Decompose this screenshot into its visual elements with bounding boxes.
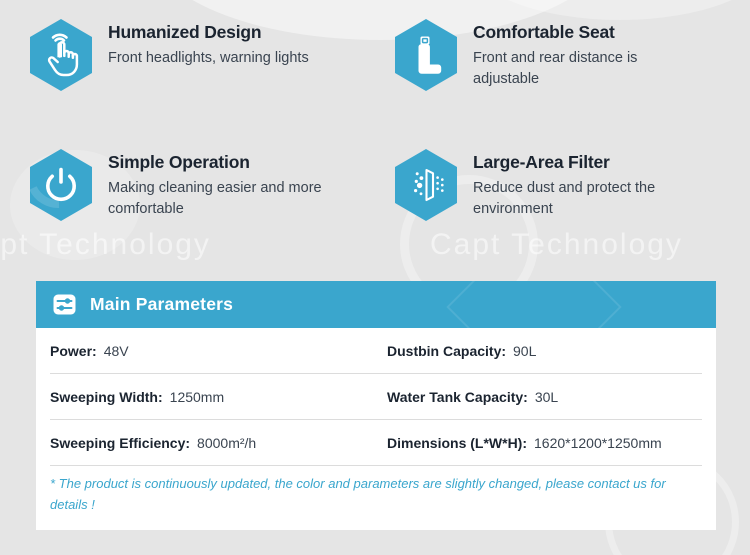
param-value: 1620*1200*1250mm (534, 435, 662, 451)
param-label: Dustbin Capacity: (387, 343, 506, 359)
feature-card-humanized-design: Humanized Design Front headlights, warni… (0, 0, 375, 130)
param-cell-sweeping-efficiency: Sweeping Efficiency: 8000m²/h (50, 435, 387, 451)
main-parameters-panel: Main Parameters Power: 48V Dustbin Capac… (36, 281, 716, 530)
param-value: 1250mm (170, 389, 224, 405)
feature-title: Simple Operation (108, 152, 333, 173)
param-cell-sweeping-width: Sweeping Width: 1250mm (50, 389, 387, 405)
feature-title: Comfortable Seat (473, 22, 698, 43)
param-cell-dustbin-capacity: Dustbin Capacity: 90L (387, 343, 702, 359)
feature-text-block: Humanized Design Front headlights, warni… (108, 18, 309, 69)
param-value: 90L (513, 343, 536, 359)
hand-tap-icon (28, 18, 94, 92)
param-label: Sweeping Width: (50, 389, 163, 405)
param-value: 48V (104, 343, 129, 359)
param-value: 30L (535, 389, 558, 405)
car-seat-icon (393, 18, 459, 92)
feature-card-simple-operation: Simple Operation Making cleaning easier … (0, 130, 375, 260)
parameters-panel-title: Main Parameters (90, 294, 233, 315)
table-row: Sweeping Efficiency: 8000m²/h Dimensions… (50, 420, 702, 466)
feature-title: Large-Area Filter (473, 152, 698, 173)
param-label: Power: (50, 343, 97, 359)
feature-text-block: Large-Area Filter Reduce dust and protec… (473, 148, 698, 221)
param-cell-water-tank-capacity: Water Tank Capacity: 30L (387, 389, 702, 405)
param-value: 8000m²/h (197, 435, 256, 451)
parameters-panel-header: Main Parameters (36, 281, 716, 328)
sliders-settings-icon (52, 292, 77, 317)
filter-membrane-icon (393, 148, 459, 222)
feature-text-block: Simple Operation Making cleaning easier … (108, 148, 333, 221)
features-grid: Humanized Design Front headlights, warni… (0, 0, 750, 260)
param-label: Dimensions (L*W*H): (387, 435, 527, 451)
feature-title: Humanized Design (108, 22, 309, 43)
parameters-panel-body: Power: 48V Dustbin Capacity: 90L Sweepin… (36, 328, 716, 530)
power-button-icon (28, 148, 94, 222)
table-row: Sweeping Width: 1250mm Water Tank Capaci… (50, 374, 702, 420)
param-label: Water Tank Capacity: (387, 389, 528, 405)
feature-description: Front headlights, warning lights (108, 48, 309, 69)
feature-description: Reduce dust and protect the environment (473, 178, 698, 221)
table-row: Power: 48V Dustbin Capacity: 90L (50, 328, 702, 374)
feature-card-large-area-filter: Large-Area Filter Reduce dust and protec… (375, 130, 750, 260)
feature-description: Front and rear distance is adjustable (473, 48, 698, 91)
param-cell-dimensions: Dimensions (L*W*H): 1620*1200*1250mm (387, 435, 702, 451)
feature-text-block: Comfortable Seat Front and rear distance… (473, 18, 698, 91)
param-label: Sweeping Efficiency: (50, 435, 190, 451)
feature-card-comfortable-seat: Comfortable Seat Front and rear distance… (375, 0, 750, 130)
header-diamond-decoration (446, 281, 621, 328)
feature-description: Making cleaning easier and more comforta… (108, 178, 333, 221)
param-cell-power: Power: 48V (50, 343, 387, 359)
parameters-disclaimer-note: * The product is continuously updated, t… (36, 466, 716, 516)
